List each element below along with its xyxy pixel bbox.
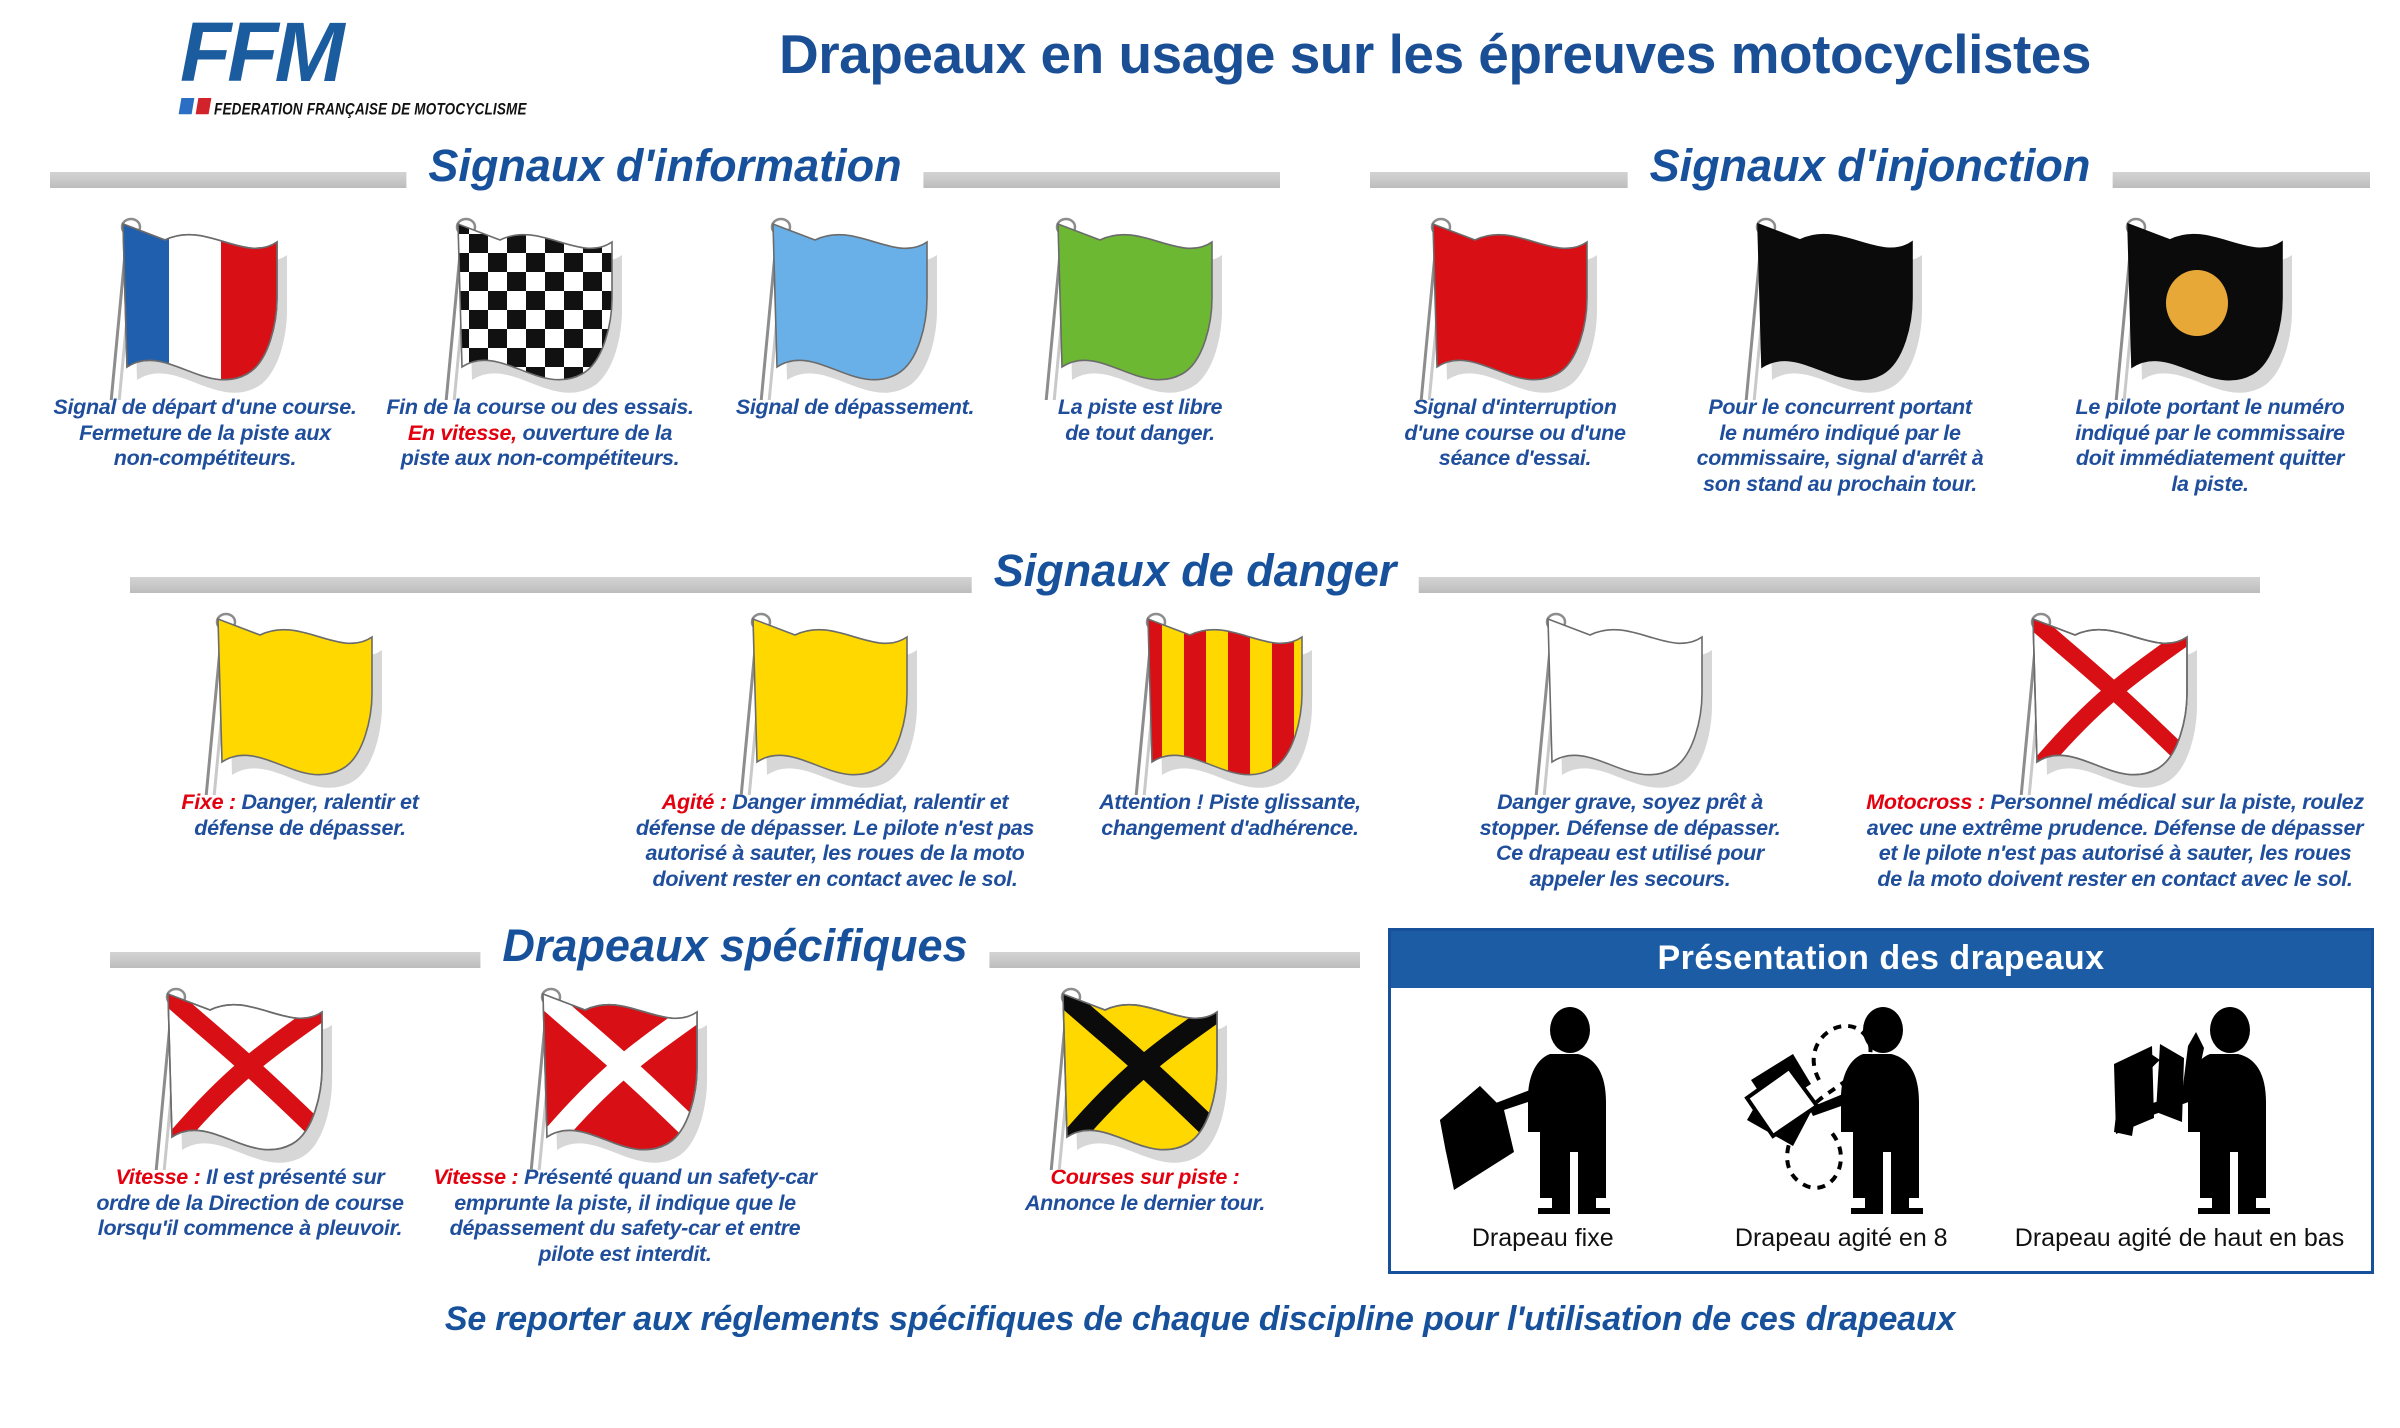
- flag-cell: Le pilote portant le numéro indiqué par …: [2035, 215, 2385, 497]
- flag-white-flag-red-saltire: [85, 985, 415, 1165]
- flag-cell: Signal de dépassement.: [710, 215, 1000, 421]
- section-title-injonction: Signaux d'injonction: [1628, 140, 2113, 192]
- flag-cell: Vitesse : Il est présenté sur ordre de l…: [85, 985, 415, 1242]
- flag-caption: Le pilote portant le numéro indiqué par …: [2035, 395, 2385, 497]
- flag-caption: Vitesse : Présenté quand un safety-car e…: [415, 1165, 835, 1267]
- flag-caption: Vitesse : Il est présenté sur ordre de l…: [85, 1165, 415, 1242]
- flag-yellow-flag-waved: [625, 610, 1045, 790]
- orange-disc-icon: [2166, 270, 2228, 336]
- presentation-item-label: Drapeau agité en 8: [1701, 1224, 1981, 1253]
- section-header-injonction: Signaux d'injonction: [1370, 140, 2370, 192]
- section-header-danger: Signaux de danger: [130, 545, 2260, 597]
- page-title: Drapeaux en usage sur les épreuves motoc…: [585, 22, 2285, 86]
- flag-black-flag-orange-disc: [2035, 215, 2385, 395]
- flag-caption: Danger grave, soyez prêt à stopper. Défe…: [1440, 790, 1820, 892]
- presentation-panel: Présentation des drapeaux Drapeau fixe: [1388, 928, 2374, 1274]
- presentation-item: Drapeau agité de haut en bas: [2015, 1002, 2344, 1253]
- flag-red-flag: [1370, 215, 1660, 395]
- footnote: Se reporter aux réglements spécifiques d…: [0, 1300, 2400, 1339]
- flag-caption: Agité : Danger immédiat, ralentir et déf…: [625, 790, 1045, 892]
- marshal-waving-figure-eight-icon: [1701, 1002, 1981, 1217]
- flag-french-tricolour-flag: [45, 215, 365, 395]
- flag-caption: La piste est libre de tout danger.: [1000, 395, 1280, 446]
- flag-cell: Danger grave, soyez prêt à stopper. Défe…: [1440, 610, 1820, 892]
- flag-green-flag: [1000, 215, 1280, 395]
- flag-cell: Pour le concurrent portant le numéro ind…: [1665, 215, 2015, 497]
- section-title-information: Signaux d'information: [406, 140, 923, 192]
- flag-chequered-flag: [375, 215, 705, 395]
- presentation-item: Drapeau agité en 8: [1701, 1002, 1981, 1253]
- flag-black-flag: [1665, 215, 2015, 395]
- flag-caption: Fin de la course ou des essais. En vites…: [375, 395, 705, 472]
- poster-root: FFM FEDERATION FRANÇAISE DE MOTOCYCLISME…: [0, 0, 2400, 1428]
- ffm-logo-wordmark: FFM: [180, 8, 540, 96]
- flag-caption: Motocross : Personnel médical sur la pis…: [1855, 790, 2375, 892]
- flag-white-flag: [1440, 610, 1820, 790]
- ffm-logo-subtitle: FEDERATION FRANÇAISE DE MOTOCYCLISME: [214, 99, 527, 118]
- ffm-logo: FFM FEDERATION FRANÇAISE DE MOTOCYCLISME: [180, 8, 540, 118]
- flag-yellow-flag-black-saltire: [975, 985, 1315, 1165]
- caption-highlight: En vitesse,: [408, 421, 517, 445]
- presentation-title: Présentation des drapeaux: [1391, 931, 2371, 988]
- presentation-body: Drapeau fixe Drapeau agité: [1391, 988, 2371, 1261]
- flag-red-yellow-striped-flag: [1065, 610, 1395, 790]
- section-title-specifiques: Drapeaux spécifiques: [480, 920, 989, 972]
- flag-cell: Signal d'interruption d'une course ou d'…: [1370, 215, 1660, 472]
- flag-cell: Agité : Danger immédiat, ralentir et déf…: [625, 610, 1045, 892]
- logo-bar-blue-icon: [179, 98, 195, 114]
- presentation-item: Drapeau fixe: [1418, 1002, 1668, 1253]
- flag-cell: Signal de départ d'une course. Fermeture…: [45, 215, 365, 472]
- marshal-waving-up-down-icon: [2034, 1002, 2324, 1217]
- flag-cell: Courses sur piste : Annonce le dernier t…: [975, 985, 1315, 1216]
- flag-cell: La piste est libre de tout danger.: [1000, 215, 1280, 446]
- flag-cell: Vitesse : Présenté quand un safety-car e…: [415, 985, 835, 1267]
- presentation-item-label: Drapeau fixe: [1418, 1224, 1668, 1253]
- flag-yellow-flag-fixed: [140, 610, 460, 790]
- flag-cell: Attention ! Piste glissante, changement …: [1065, 610, 1395, 841]
- flag-caption: Fixe : Danger, ralentir et défense de dé…: [140, 790, 460, 841]
- flag-caption: Courses sur piste : Annonce le dernier t…: [975, 1165, 1315, 1216]
- flag-cell: Motocross : Personnel médical sur la pis…: [1855, 610, 2375, 892]
- ffm-logo-subtitle-row: FEDERATION FRANÇAISE DE MOTOCYCLISME: [180, 98, 540, 118]
- flag-cell: Fixe : Danger, ralentir et défense de dé…: [140, 610, 460, 841]
- flag-caption: Signal de départ d'une course. Fermeture…: [45, 395, 365, 472]
- logo-bar-red-icon: [196, 98, 212, 114]
- flag-white-flag-red-cross: [1855, 610, 2375, 790]
- flag-caption: Pour le concurrent portant le numéro ind…: [1665, 395, 2015, 497]
- flag-cell: Fin de la course ou des essais. En vites…: [375, 215, 705, 472]
- flag-caption: Attention ! Piste glissante, changement …: [1065, 790, 1395, 841]
- presentation-item-label: Drapeau agité de haut en bas: [2015, 1224, 2344, 1253]
- section-header-information: Signaux d'information: [50, 140, 1280, 192]
- caption-highlight: Motocross :: [1866, 790, 1985, 814]
- marshal-holding-fixed-flag-icon: [1418, 1002, 1668, 1217]
- flag-red-flag-white-saltire: [415, 985, 835, 1165]
- flag-blue-flag: [710, 215, 1000, 395]
- flag-caption: Signal d'interruption d'une course ou d'…: [1370, 395, 1660, 472]
- section-header-specifiques: Drapeaux spécifiques: [110, 920, 1360, 972]
- section-title-danger: Signaux de danger: [972, 545, 1419, 597]
